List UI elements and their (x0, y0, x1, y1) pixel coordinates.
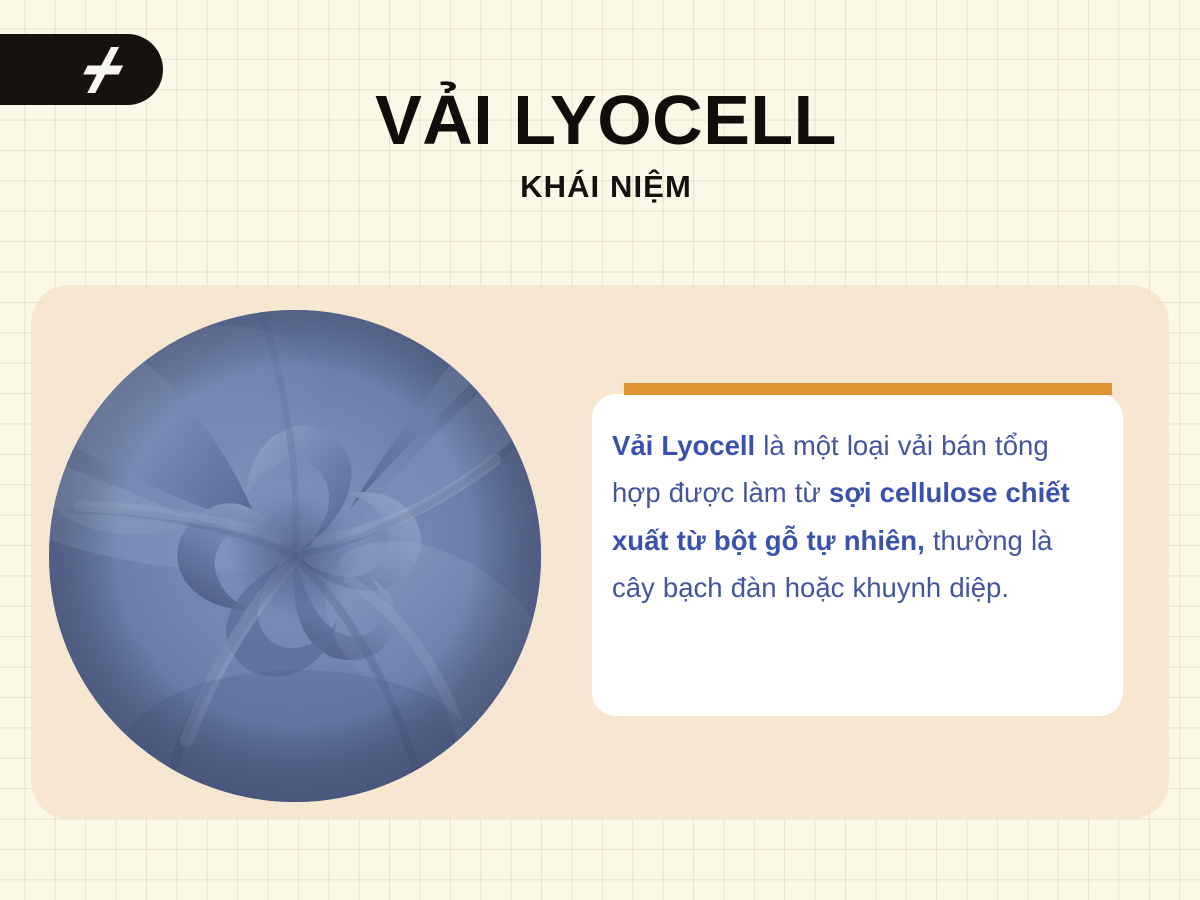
paragraph-strong-run: Vải Lyocell (612, 430, 755, 461)
brand-mark-icon (78, 43, 132, 97)
title-block: VẢI LYOCELL KHÁI NIỆM (0, 84, 1200, 205)
page-subtitle: KHÁI NIỆM (0, 169, 1200, 205)
fabric-swirl-illustration (49, 310, 541, 802)
fabric-image-circle (49, 310, 541, 802)
brand-logo-pill[interactable] (0, 34, 163, 105)
definition-card: Vải Lyocell là một loại vải bán tổng hợp… (592, 394, 1123, 716)
slide-root: VẢI LYOCELL KHÁI NIỆM (0, 0, 1200, 900)
definition-paragraph: Vải Lyocell là một loại vải bán tổng hợp… (592, 394, 1123, 716)
card-accent-bar (624, 383, 1112, 395)
page-title: VẢI LYOCELL (0, 84, 1200, 157)
